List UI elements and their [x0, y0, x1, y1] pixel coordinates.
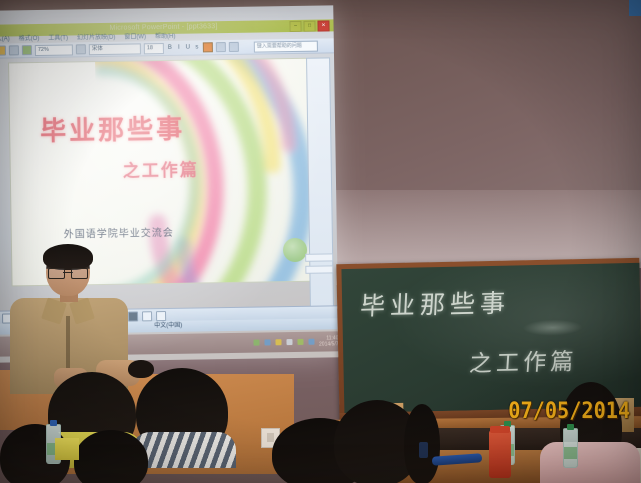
save-icon[interactable]	[0, 45, 6, 55]
camera-date-stamp: 07/05/2014	[508, 399, 630, 424]
slide-footer: 外国语学院毕业交流会	[64, 224, 174, 241]
chevron-down-icon[interactable]	[76, 44, 86, 54]
pane-row-1	[305, 253, 333, 261]
slide-title: 毕业那些事	[40, 109, 186, 148]
menu-item-insert[interactable]: 入(A)	[0, 33, 10, 42]
photo-scene: Microsoft PowerPoint - [ppt3633] – □ ✕ 入…	[0, 0, 641, 483]
tray-icon-3[interactable]	[275, 339, 281, 345]
align-center-icon[interactable]	[229, 42, 239, 52]
wall-pale-strip	[332, 190, 641, 268]
3d-style-icon[interactable]	[156, 311, 166, 321]
tray-icon-2[interactable]	[264, 339, 270, 345]
font-color-swatch[interactable]	[203, 42, 213, 52]
slide-subtitle: 之工作篇	[123, 155, 199, 181]
audience-head-3	[74, 430, 148, 483]
align-left-icon[interactable]	[216, 42, 226, 52]
blue-corner-marker	[629, 0, 641, 16]
marker-pen	[419, 442, 428, 458]
menu-item-help[interactable]: 帮助(H)	[155, 31, 175, 40]
blackboard-line-2: 之工作篇	[468, 342, 578, 378]
audience-head-2	[136, 368, 228, 456]
water-bottle-3	[563, 428, 578, 468]
chalk-smudge	[523, 319, 583, 336]
pane-row-2	[305, 265, 333, 273]
taskbar-clock-date[interactable]: 2014/5/7	[319, 341, 339, 347]
font-family-select[interactable]: 宋体	[89, 43, 141, 55]
shadow-style-icon[interactable]	[142, 311, 152, 321]
menu-item-format[interactable]: 格式(O)	[19, 33, 40, 42]
underline-button[interactable]: U	[185, 45, 191, 51]
print-icon[interactable]	[9, 45, 19, 55]
audience-shirt-8	[540, 442, 640, 483]
italic-button[interactable]: I	[176, 45, 182, 51]
font-color-icon[interactable]	[128, 311, 138, 321]
spellcheck-icon[interactable]	[22, 45, 32, 55]
tray-icon-6[interactable]	[308, 339, 314, 345]
bold-button[interactable]: B	[167, 45, 173, 51]
font-size-select[interactable]: 18	[144, 43, 164, 54]
tray-icon-5[interactable]	[297, 339, 303, 345]
menu-item-window[interactable]: 窗口(W)	[124, 31, 146, 40]
shadow-button[interactable]: s	[194, 44, 200, 50]
zoom-select[interactable]: 72%	[35, 44, 73, 56]
tray-icon-1[interactable]	[253, 340, 259, 346]
help-search-input[interactable]: 键入需要帮助的问题	[254, 41, 318, 53]
menu-item-tools[interactable]: 工具(T)	[48, 33, 68, 42]
glasses-icon	[48, 268, 88, 277]
presenter-hair	[43, 244, 93, 270]
notebook	[55, 438, 79, 460]
audience-head-partial	[128, 360, 154, 378]
blackboard-line-1: 毕业那些事	[359, 284, 511, 323]
red-thermos-cup	[489, 430, 511, 478]
menu-item-slideshow[interactable]: 幻灯片放映(D)	[77, 32, 115, 42]
tray-icon-4[interactable]	[286, 339, 292, 345]
